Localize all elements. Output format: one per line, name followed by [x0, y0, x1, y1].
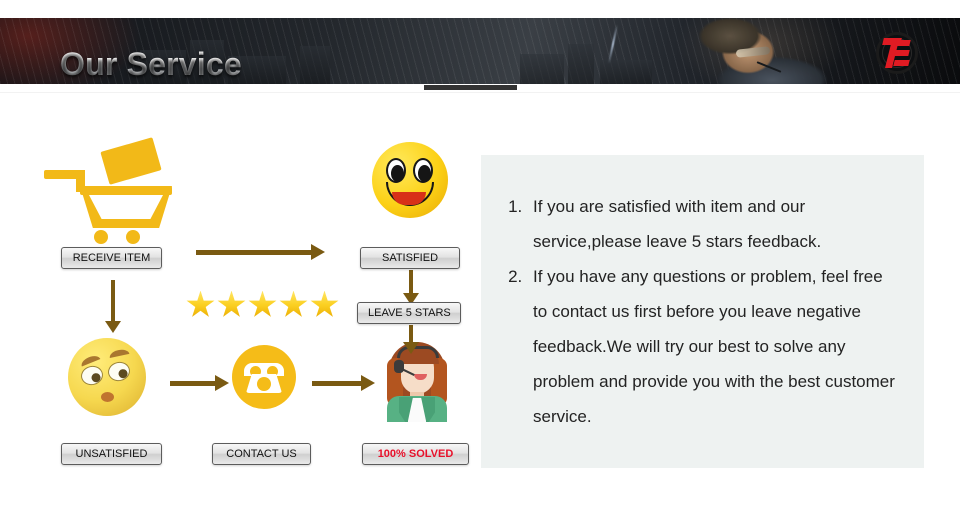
header-divider: [0, 92, 960, 93]
list-item: If you have any questions or problem, fe…: [527, 259, 898, 434]
star-icon: [310, 291, 339, 320]
arrow-receive-to-unsatisfied: [111, 280, 115, 322]
star-icon: [217, 291, 246, 320]
banner-building: [520, 54, 564, 84]
arrow-unsatisfied-to-contact: [170, 381, 216, 386]
banner-building: [300, 46, 330, 84]
service-notes-panel: If you are satisfied with item and our s…: [481, 155, 924, 468]
node-contact-us[interactable]: CONTACT US: [212, 443, 311, 465]
star-icon: [279, 291, 308, 320]
header-banner: Our Service: [0, 18, 960, 84]
page-title: Our Service: [60, 46, 242, 83]
arrow-satisfied-to-stars: [409, 270, 413, 294]
node-satisfied[interactable]: SATISFIED: [360, 247, 460, 269]
ts-brand-logo[interactable]: [876, 32, 918, 74]
node-unsatisfied[interactable]: UNSATISFIED: [61, 443, 162, 465]
service-notes-list: If you are satisfied with item and our s…: [505, 189, 898, 434]
header-accent-bar: [424, 85, 517, 90]
arrow-receive-to-satisfied: [196, 250, 312, 255]
banner-building: [600, 60, 652, 84]
banner-building: [568, 44, 594, 84]
arrow-stars-to-agent: [409, 325, 413, 343]
satisfied-smiley-icon: [372, 142, 448, 218]
node-leave-5-stars[interactable]: LEAVE 5 STARS: [357, 302, 461, 324]
shopping-cart-icon: [40, 142, 180, 232]
arrow-contact-to-solved: [312, 381, 362, 386]
node-receive-item[interactable]: RECEIVE ITEM: [61, 247, 162, 269]
unsatisfied-face-icon: [68, 338, 146, 416]
our-service-page: Our Service: [0, 0, 960, 513]
service-flow-diagram: RECEIVE ITEM SATISFIED LEAVE 5 STARS UNS…: [0, 100, 470, 500]
star-icon: [186, 291, 215, 320]
telephone-icon: [232, 345, 296, 409]
five-star-rating-icon: [186, 290, 342, 320]
logo-mark: [883, 38, 911, 68]
list-item: If you are satisfied with item and our s…: [527, 189, 898, 259]
node-100-percent-solved[interactable]: 100% SOLVED: [362, 443, 469, 465]
star-icon: [248, 291, 277, 320]
